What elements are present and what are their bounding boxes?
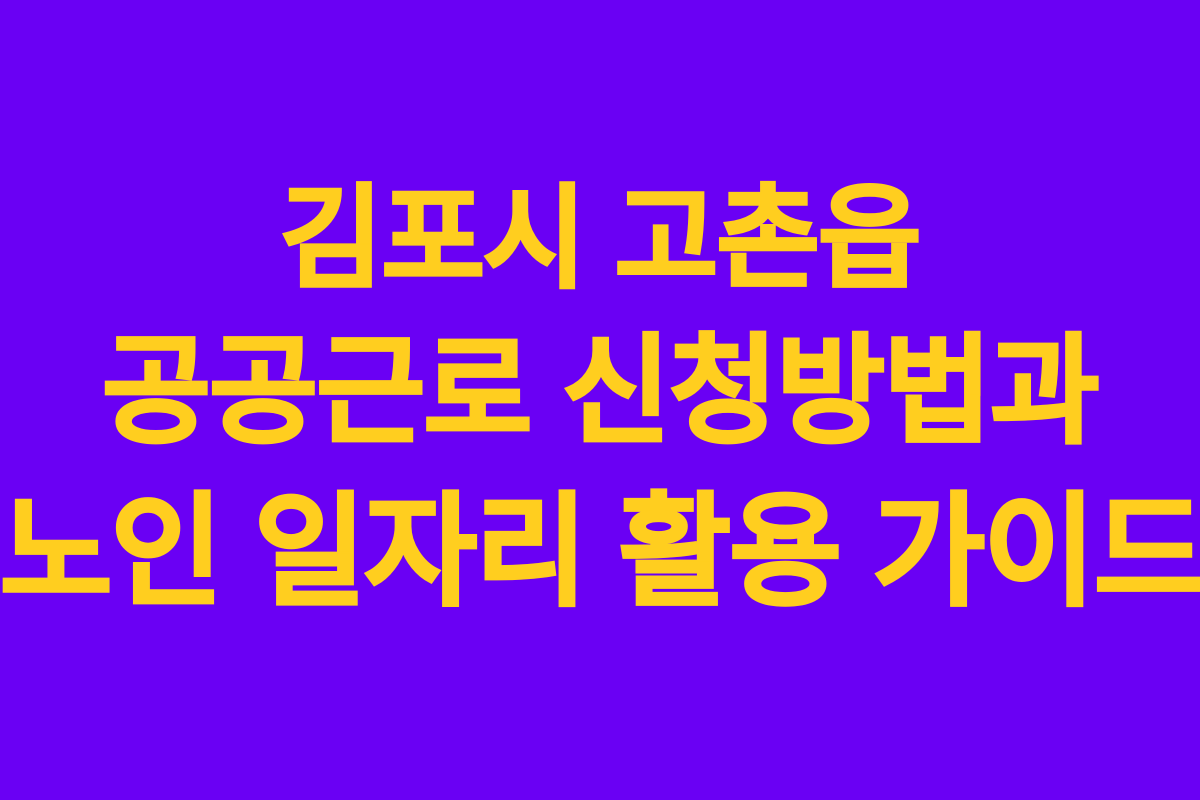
headline-line-1: 김포시 고촌읍: [0, 165, 1200, 314]
headline-line-3: 노인 일자리 활용 가이드: [0, 471, 1200, 633]
headline-block: 김포시 고촌읍 공공근로 신청방법과 노인 일자리 활용 가이드: [0, 165, 1200, 633]
headline-line-2: 공공근로 신청방법과: [0, 314, 1200, 471]
title-card: 김포시 고촌읍 공공근로 신청방법과 노인 일자리 활용 가이드: [0, 0, 1200, 800]
